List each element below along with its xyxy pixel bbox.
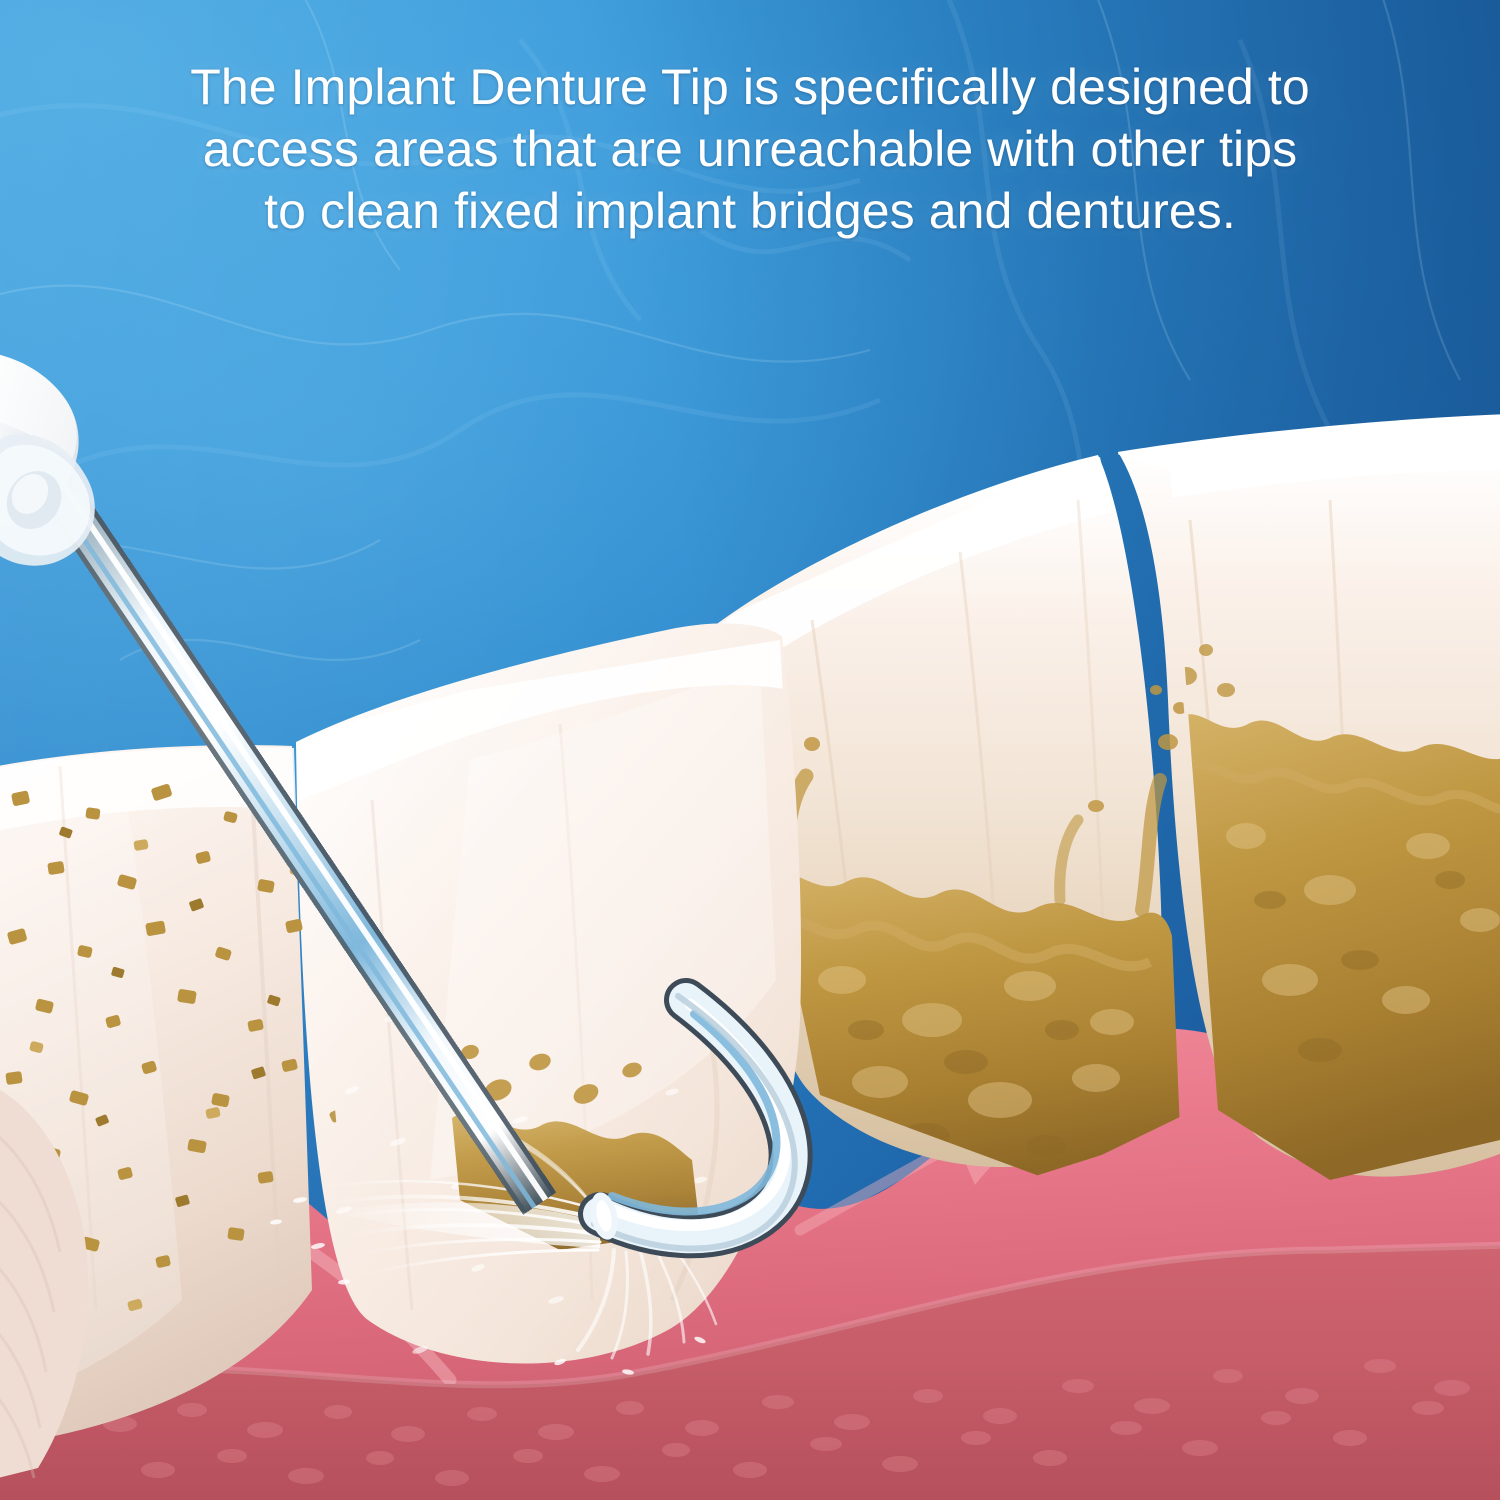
- dental-scene: [0, 0, 1500, 1500]
- tooth-center: [296, 623, 801, 1382]
- tip-handle-base: [0, 350, 95, 566]
- product-illustration: The Implant Denture Tip is specifically …: [0, 0, 1500, 1500]
